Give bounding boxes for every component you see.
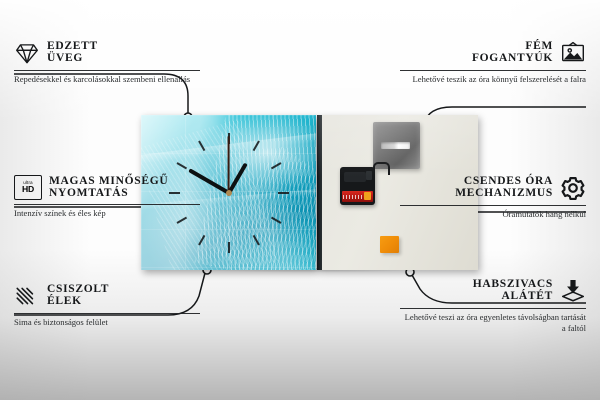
feature-title-line1: MAGAS MINŐSÉGŰ [49, 176, 168, 188]
battery-label-band [343, 195, 365, 199]
feature-description: Lehetővé teszik az óra könnyű felszerelé… [400, 74, 586, 85]
ultra-hd-icon-large-text: HD [22, 185, 34, 194]
feature-csiszolt-elek: CSISZOLT ÉLEK Sima és biztonságos felüle… [14, 283, 200, 328]
feature-description: Lehetővé teszi az óra egyenletes távolsá… [400, 312, 586, 335]
feature-header: HABSZIVACS ALÁTÉT [400, 278, 586, 304]
feature-title-line2: MECHANIZMUS [455, 188, 553, 200]
feature-divider [14, 313, 200, 314]
battery [342, 191, 373, 202]
feature-titles: CSENDES ÓRA MECHANIZMUS [455, 176, 553, 200]
foam-pad-icon [560, 278, 586, 304]
clock-tick [228, 193, 230, 253]
feature-fem-fogantyuk: FÉM FOGANTYÚK Lehetővé teszik az óra kön… [400, 40, 586, 85]
feature-description: Sima és biztonságos felület [14, 317, 200, 328]
picture-hanger-icon [560, 40, 586, 66]
feature-header: CSISZOLT ÉLEK [14, 283, 200, 309]
clock-center-pin [226, 190, 232, 196]
feature-header: FÉM FOGANTYÚK [400, 40, 586, 66]
panel-edge [317, 115, 322, 270]
feature-header: EDZETT ÜVEG [14, 40, 200, 66]
clock-tick [229, 192, 289, 194]
feature-edzett-uveg: EDZETT ÜVEG Repedésekkel és karcolásokka… [14, 40, 200, 85]
feature-habszivacs-alatet: HABSZIVACS ALÁTÉT Lehetővé teszi az óra … [400, 278, 586, 335]
feature-header: ultra HD MAGAS MINŐSÉGŰ NYOMTATÁS [14, 175, 200, 200]
feature-title-line2: ALÁTÉT [473, 291, 553, 303]
feature-divider [400, 70, 586, 71]
clock-mechanism-box [340, 167, 375, 205]
feature-divider [14, 204, 200, 205]
mechanism-dial [344, 172, 366, 182]
infographic-stage: EDZETT ÜVEG Repedésekkel és karcolásokka… [0, 0, 600, 400]
feature-divider [14, 70, 200, 71]
feature-titles: HABSZIVACS ALÁTÉT [473, 279, 553, 303]
feature-title-line2: FOGANTYÚK [472, 53, 553, 65]
battery-plus-terminal [364, 192, 371, 200]
feature-titles: EDZETT ÜVEG [47, 41, 98, 65]
polished-edges-icon [14, 283, 40, 309]
feature-csendes-ora-mechanizmus: CSENDES ÓRA MECHANIZMUS Óramutatók hang … [400, 175, 586, 220]
foam-pad [380, 236, 399, 253]
feature-title-line2: ÜVEG [47, 53, 98, 65]
feature-titles: MAGAS MINŐSÉGŰ NYOMTATÁS [49, 176, 168, 200]
feature-description: Óramutatók hang nélkül [400, 209, 586, 220]
mechanism-knob [366, 171, 372, 180]
feature-divider [400, 205, 586, 206]
mechanism-hanging-loop [373, 162, 390, 175]
ultra-hd-icon: ultra HD [14, 175, 42, 200]
feature-magas-minosegu-nyomtatas: ultra HD MAGAS MINŐSÉGŰ NYOMTATÁS Intenz… [14, 175, 200, 219]
feature-description: Repedésekkel és karcolásokkal szembeni e… [14, 74, 200, 85]
feature-title-line2: NYOMTATÁS [49, 188, 168, 200]
clock-second-hand [228, 136, 230, 196]
feature-titles: CSISZOLT ÉLEK [47, 284, 109, 308]
bracket-slot [381, 142, 410, 149]
feature-divider [400, 308, 586, 309]
feature-title-line2: ÉLEK [47, 296, 109, 308]
feature-titles: FÉM FOGANTYÚK [472, 41, 553, 65]
feature-header: CSENDES ÓRA MECHANIZMUS [400, 175, 586, 201]
diamond-icon [14, 40, 40, 66]
feature-description: Intenzív színek és éles kép [14, 208, 200, 219]
gear-icon [560, 175, 586, 201]
